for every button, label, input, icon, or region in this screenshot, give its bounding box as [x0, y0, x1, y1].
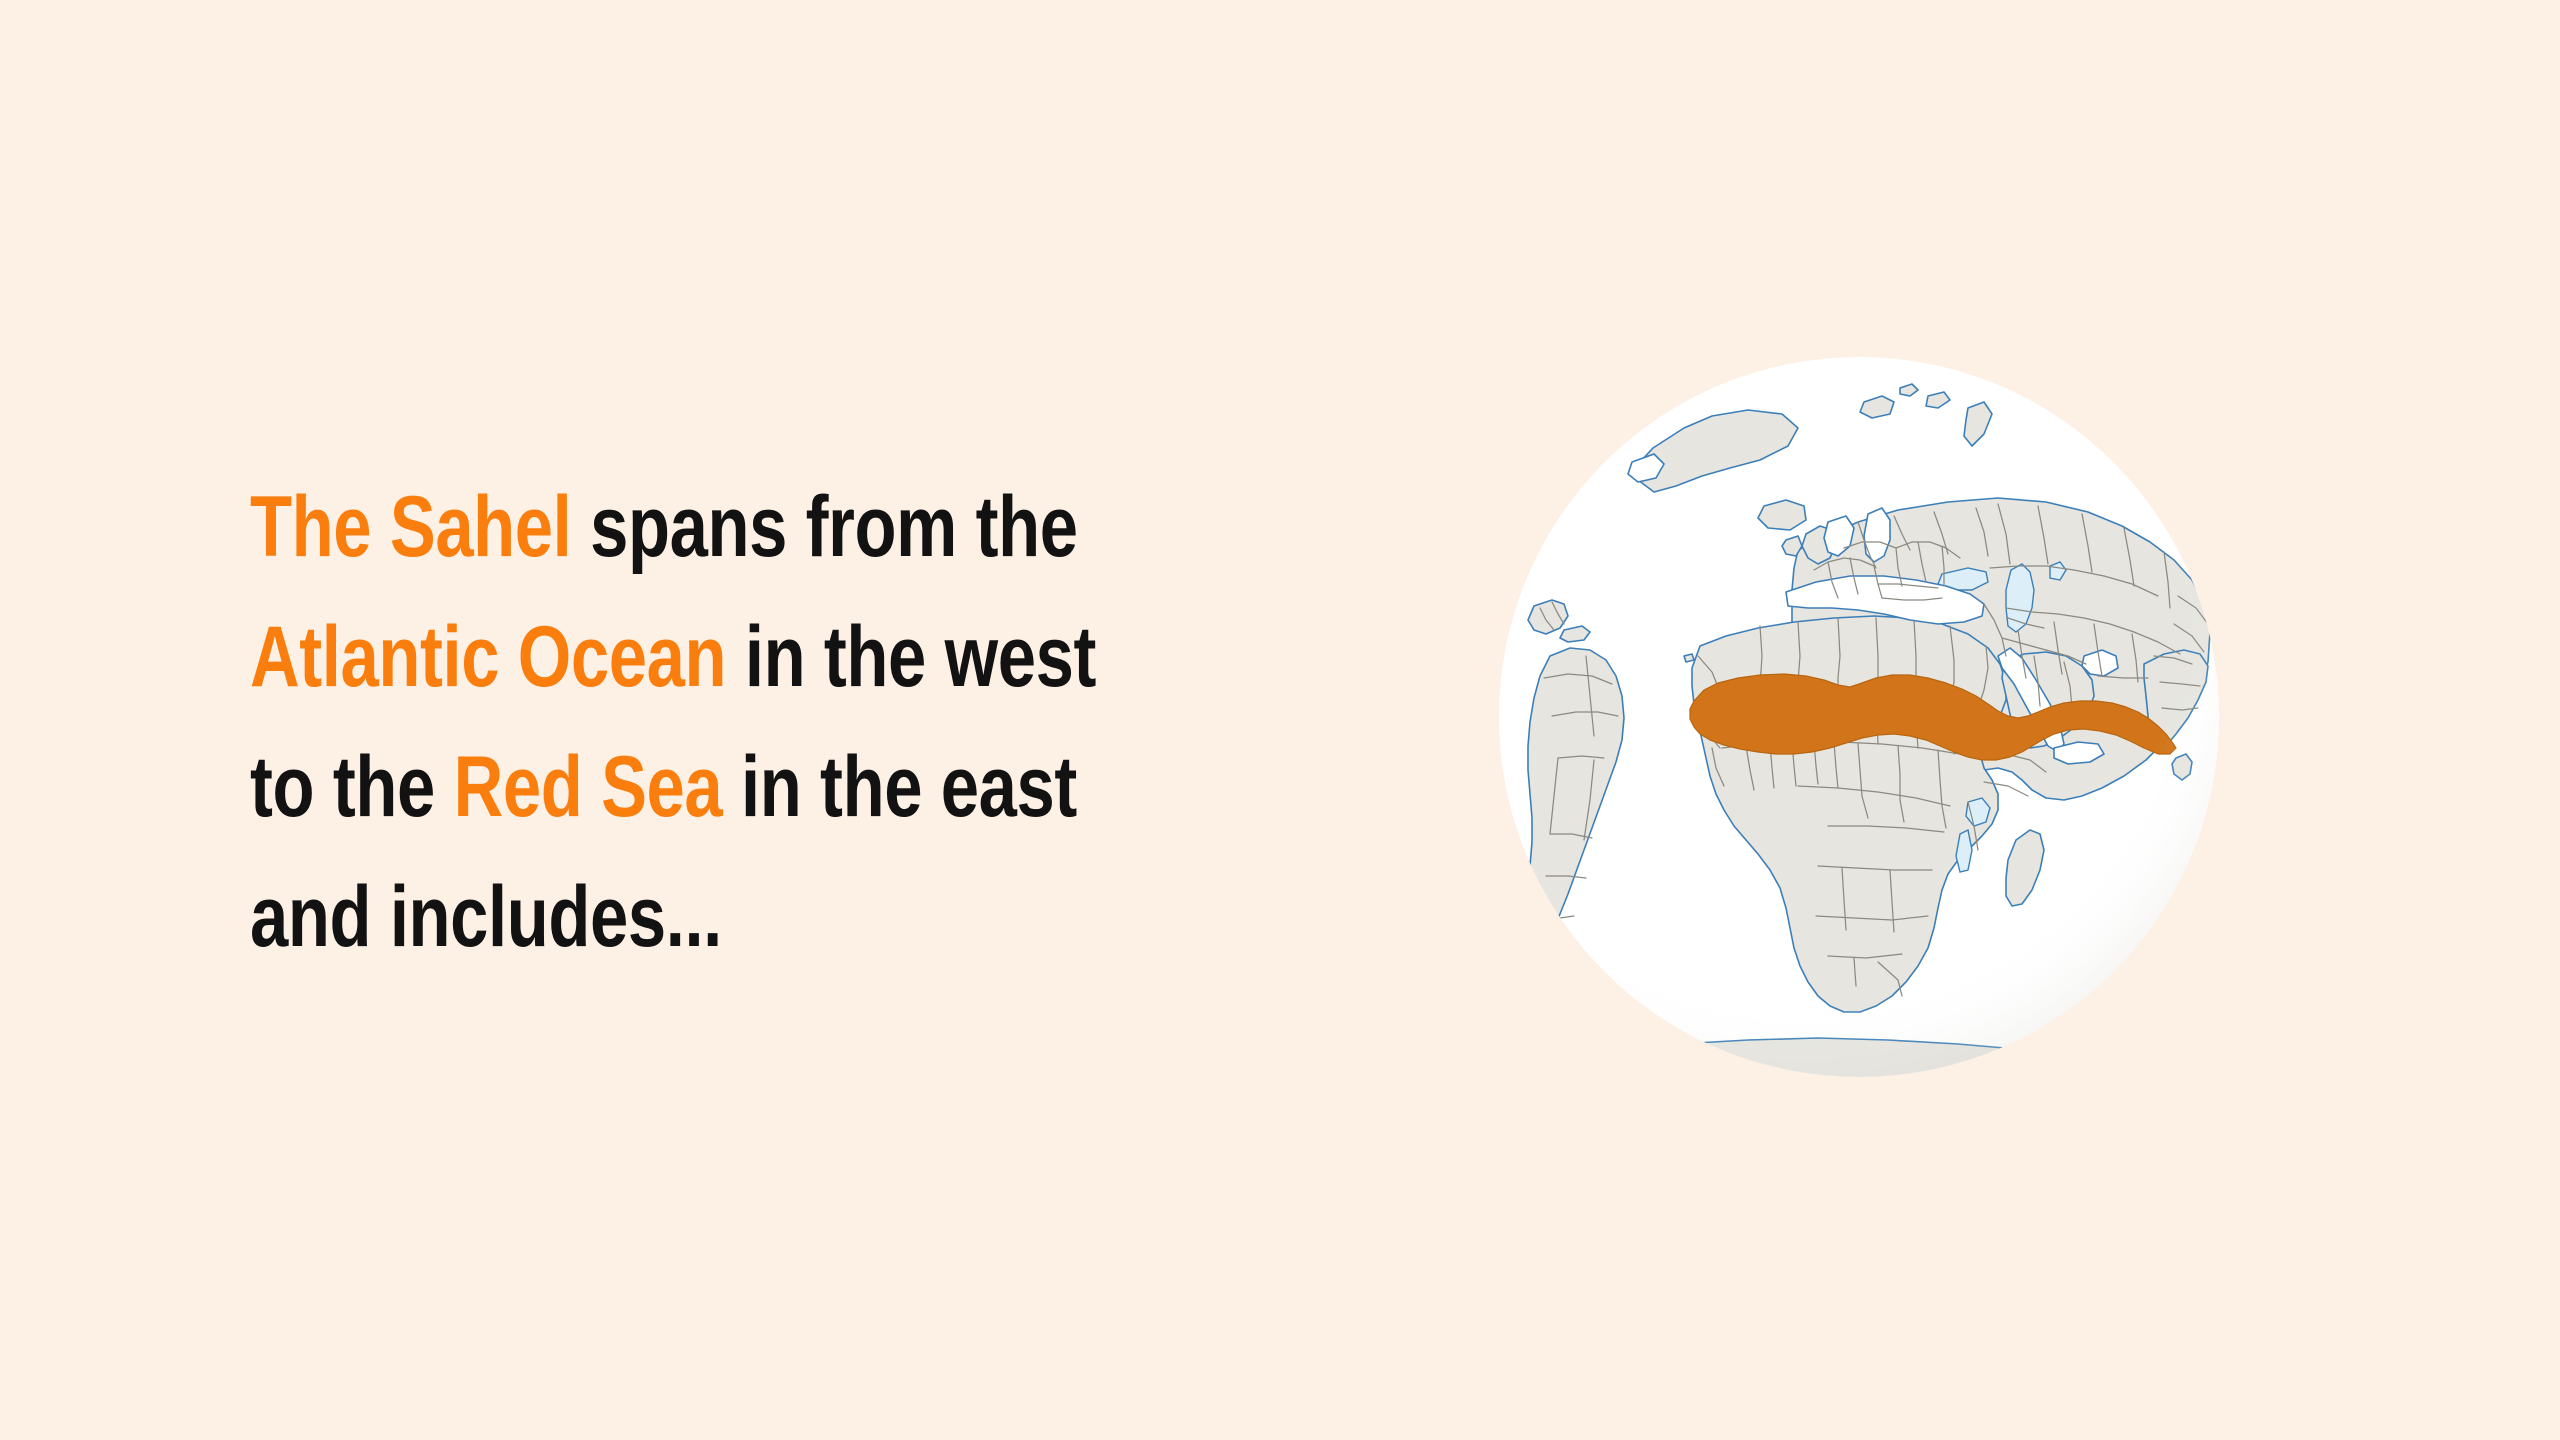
headline-line-2: Atlantic Ocean in the west	[250, 592, 1106, 722]
headline-line-4: and includes...	[250, 852, 1106, 982]
slide-canvas: The Sahel spans from the Atlantic Ocean …	[0, 0, 2560, 1440]
headline-line-1-rest: spans from the	[571, 479, 1077, 575]
headline-line-2-rest: in the west	[726, 609, 1096, 705]
headline-line-3-rest: in the east	[722, 739, 1077, 835]
highlight-atlantic-ocean: Atlantic Ocean	[250, 609, 726, 705]
highlight-the-sahel: The Sahel	[250, 479, 571, 575]
globe-svg	[1498, 356, 2220, 1078]
highlight-red-sea: Red Sea	[454, 739, 723, 835]
globe-illustration	[1498, 356, 2220, 1078]
headline-line-3-lead: to the	[250, 739, 454, 835]
headline-text-block: The Sahel spans from the Atlantic Ocean …	[250, 462, 1320, 982]
globe-shading	[1499, 357, 2219, 1077]
headline-line-3: to the Red Sea in the east	[250, 722, 1106, 852]
headline-line-1: The Sahel spans from the	[250, 462, 1106, 592]
headline-line-4-text: and includes...	[250, 869, 722, 965]
